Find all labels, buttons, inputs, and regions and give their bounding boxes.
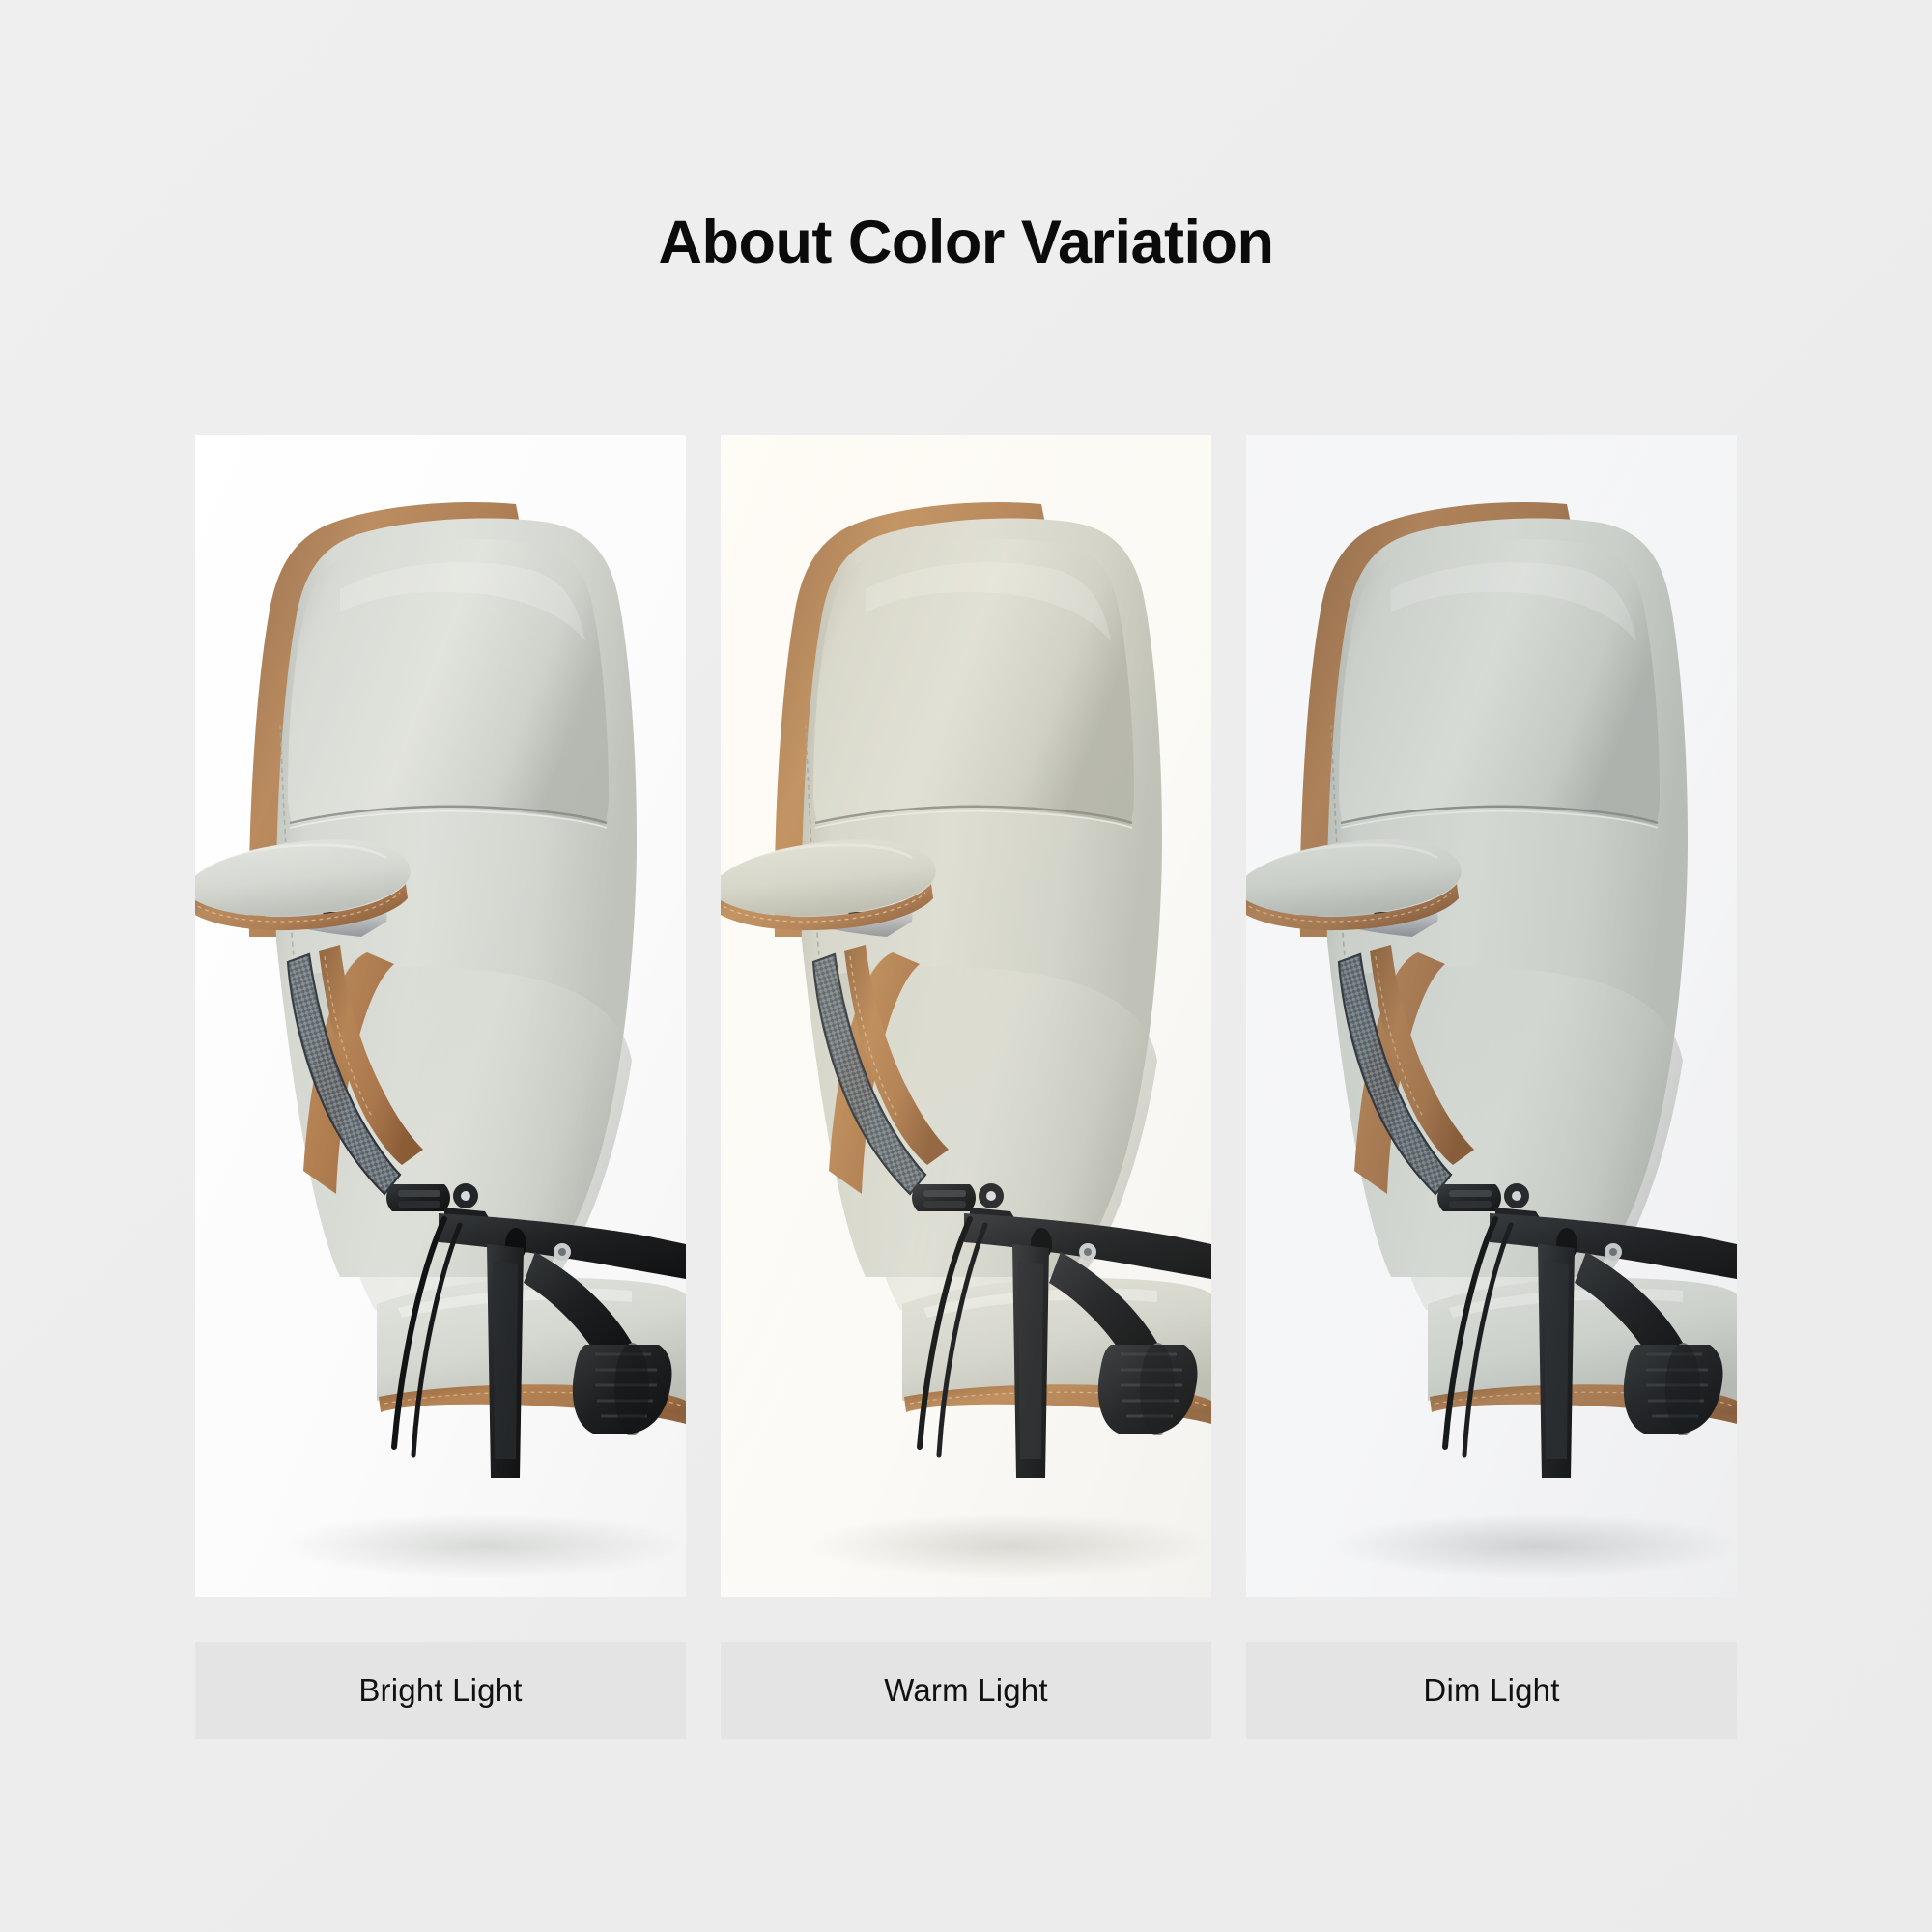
office-chair-illustration [195, 435, 686, 1597]
caption-label: Bright Light [358, 1672, 522, 1709]
caption-label: Warm Light [884, 1672, 1047, 1709]
caption-warm-light: Warm Light [721, 1642, 1211, 1739]
caption-label: Dim Light [1423, 1672, 1559, 1709]
page-title: About Color Variation [0, 213, 1932, 273]
caption-dim-light: Dim Light [1246, 1642, 1737, 1739]
chair-photo-warm-light [721, 435, 1211, 1597]
photo-caption-gap [721, 1597, 1211, 1642]
variation-panel-warm-light[interactable]: Warm Light [721, 435, 1211, 1739]
caption-bright-light: Bright Light [195, 1642, 686, 1739]
color-variation-panel-group: Bright Light [195, 435, 1737, 1739]
chair-photo-dim-light [1246, 435, 1737, 1597]
office-chair-illustration [721, 435, 1211, 1597]
page-root: About Color Variation [0, 0, 1932, 1932]
photo-caption-gap [195, 1597, 686, 1642]
variation-panel-bright-light[interactable]: Bright Light [195, 435, 686, 1739]
photo-caption-gap [1246, 1597, 1737, 1642]
chair-photo-bright-light [195, 435, 686, 1597]
office-chair-illustration [1246, 435, 1737, 1597]
variation-panel-dim-light[interactable]: Dim Light [1246, 435, 1737, 1739]
